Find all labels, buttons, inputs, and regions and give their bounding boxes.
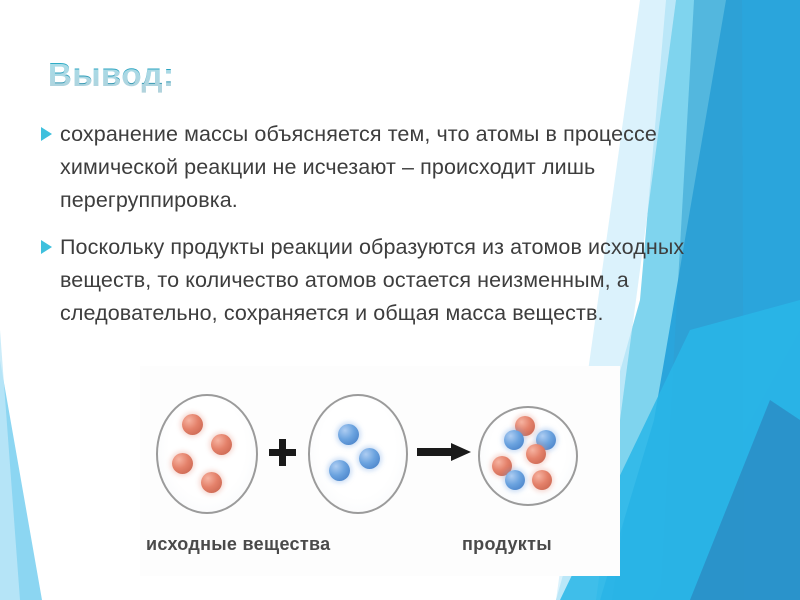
bullet-text: Поскольку продукты реакции образуются из…: [60, 231, 736, 330]
bg-shape-left-wedge-pale: [0, 330, 20, 600]
reaction-diagram: исходные вещества продукты: [140, 366, 620, 576]
list-item: Поскольку продукты реакции образуются из…: [36, 231, 736, 330]
triangle-bullet-icon: [36, 127, 56, 141]
bg-shape-bottom-blue: [690, 400, 800, 600]
plus-icon: [268, 438, 298, 468]
atom-blue: [359, 448, 380, 469]
atom-blue: [505, 470, 525, 490]
list-item: сохранение массы объясняется тем, что ат…: [36, 118, 736, 217]
atom-blue: [504, 430, 524, 450]
atom-red: [526, 444, 546, 464]
reaction-row: [140, 366, 620, 531]
atom-red: [182, 414, 203, 435]
atom-blue: [329, 460, 350, 481]
atom-red: [532, 470, 552, 490]
atom-red: [172, 453, 193, 474]
bullet-list: сохранение массы объясняется тем, что ат…: [36, 118, 736, 344]
diagram-caption-products: продукты: [462, 534, 552, 555]
reactant-vessel-2: [308, 394, 408, 514]
atom-red: [201, 472, 222, 493]
reactant-vessel-1: [156, 394, 258, 514]
atom-red: [211, 434, 232, 455]
bullet-text: сохранение массы объясняется тем, что ат…: [60, 118, 736, 217]
triangle-bullet-icon: [36, 240, 56, 254]
product-vessel: [478, 406, 578, 506]
diagram-caption-reactants: исходные вещества: [146, 534, 330, 555]
page-title: Вывод:: [48, 56, 175, 94]
arrow-right-icon: [417, 444, 471, 460]
presentation-slide: Вывод: сохранение массы объясняется тем,…: [0, 0, 800, 600]
atom-blue: [338, 424, 359, 445]
bg-shape-left-wedge: [0, 360, 42, 600]
